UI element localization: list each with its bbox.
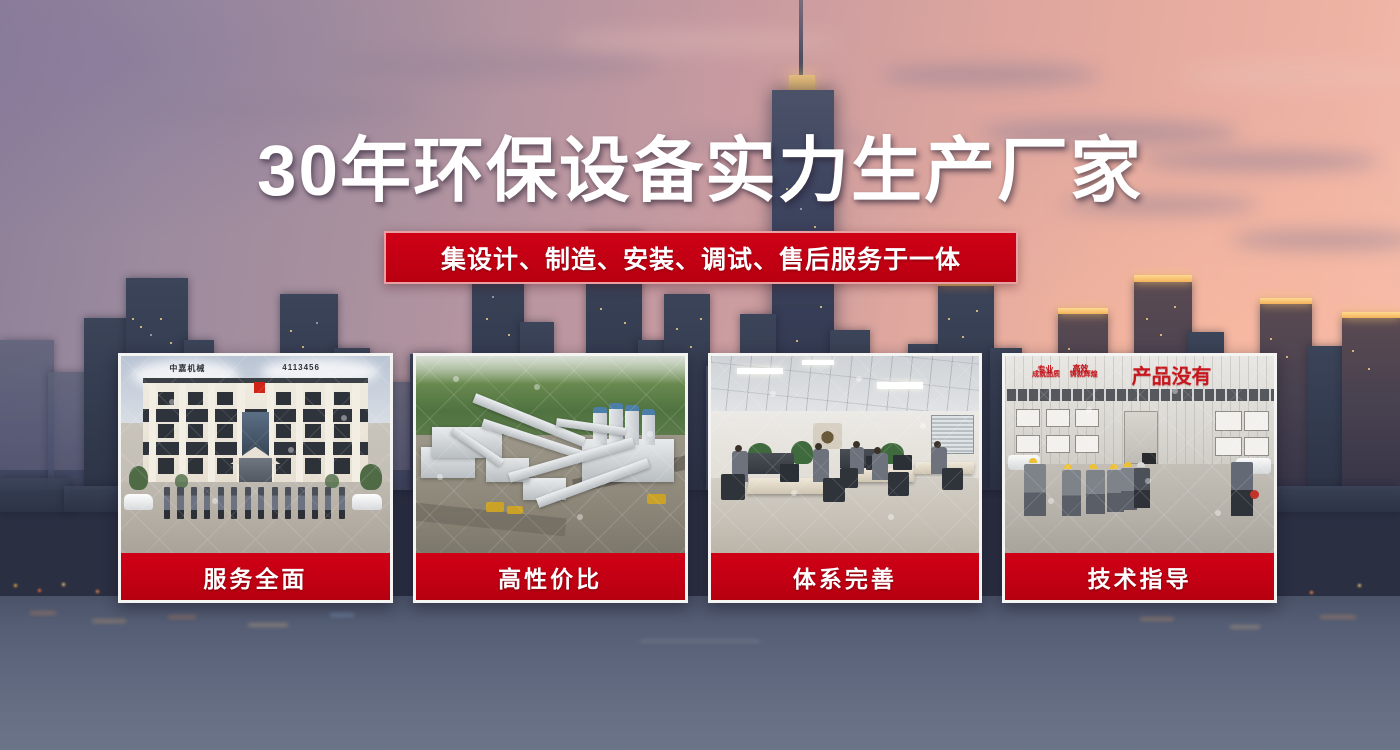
feature-card-value[interactable]: 高性价比: [413, 353, 688, 603]
feature-card-system[interactable]: 体系完善: [708, 353, 983, 603]
card-caption: 技术指导: [1005, 553, 1274, 600]
feature-card-grid: 中嘉机械 4113456: [118, 353, 1277, 603]
feature-card-service[interactable]: 中嘉机械 4113456: [118, 353, 393, 603]
building-sign-text: 中嘉机械: [169, 363, 205, 374]
office-interior-staff-working-photo: [711, 356, 980, 553]
card-caption: 体系完善: [711, 553, 980, 600]
aerial-view-industrial-plant-photo: [416, 356, 685, 553]
card-caption: 服务全面: [121, 553, 390, 600]
factory-sign-d: 铸就辉煌: [1070, 369, 1098, 379]
company-office-building-with-staff-photo: 中嘉机械 4113456: [121, 356, 390, 553]
factory-sign-c: 成就品质: [1032, 369, 1060, 379]
subtitle-text: 集设计、制造、安装、调试、售后服务于一体: [386, 233, 1016, 282]
workers-technical-briefing-at-factory-photo: 产品没有 专业 高效 成就品质 铸就辉煌: [1005, 356, 1274, 553]
building-phone-text: 4113456: [282, 363, 320, 372]
subtitle-banner: 集设计、制造、安装、调试、售后服务于一体: [384, 231, 1018, 284]
factory-sign-main: 产品没有: [1132, 360, 1212, 389]
feature-card-guidance[interactable]: 产品没有 专业 高效 成就品质 铸就辉煌: [1002, 353, 1277, 603]
page-title: 30年环保设备实力生产厂家: [0, 136, 1400, 207]
banner-stage: 30年环保设备实力生产厂家 集设计、制造、安装、调试、售后服务于一体: [0, 0, 1400, 750]
card-caption: 高性价比: [416, 553, 685, 600]
flag-icon: [254, 382, 265, 394]
water-reflection-sheen: [0, 596, 1400, 750]
